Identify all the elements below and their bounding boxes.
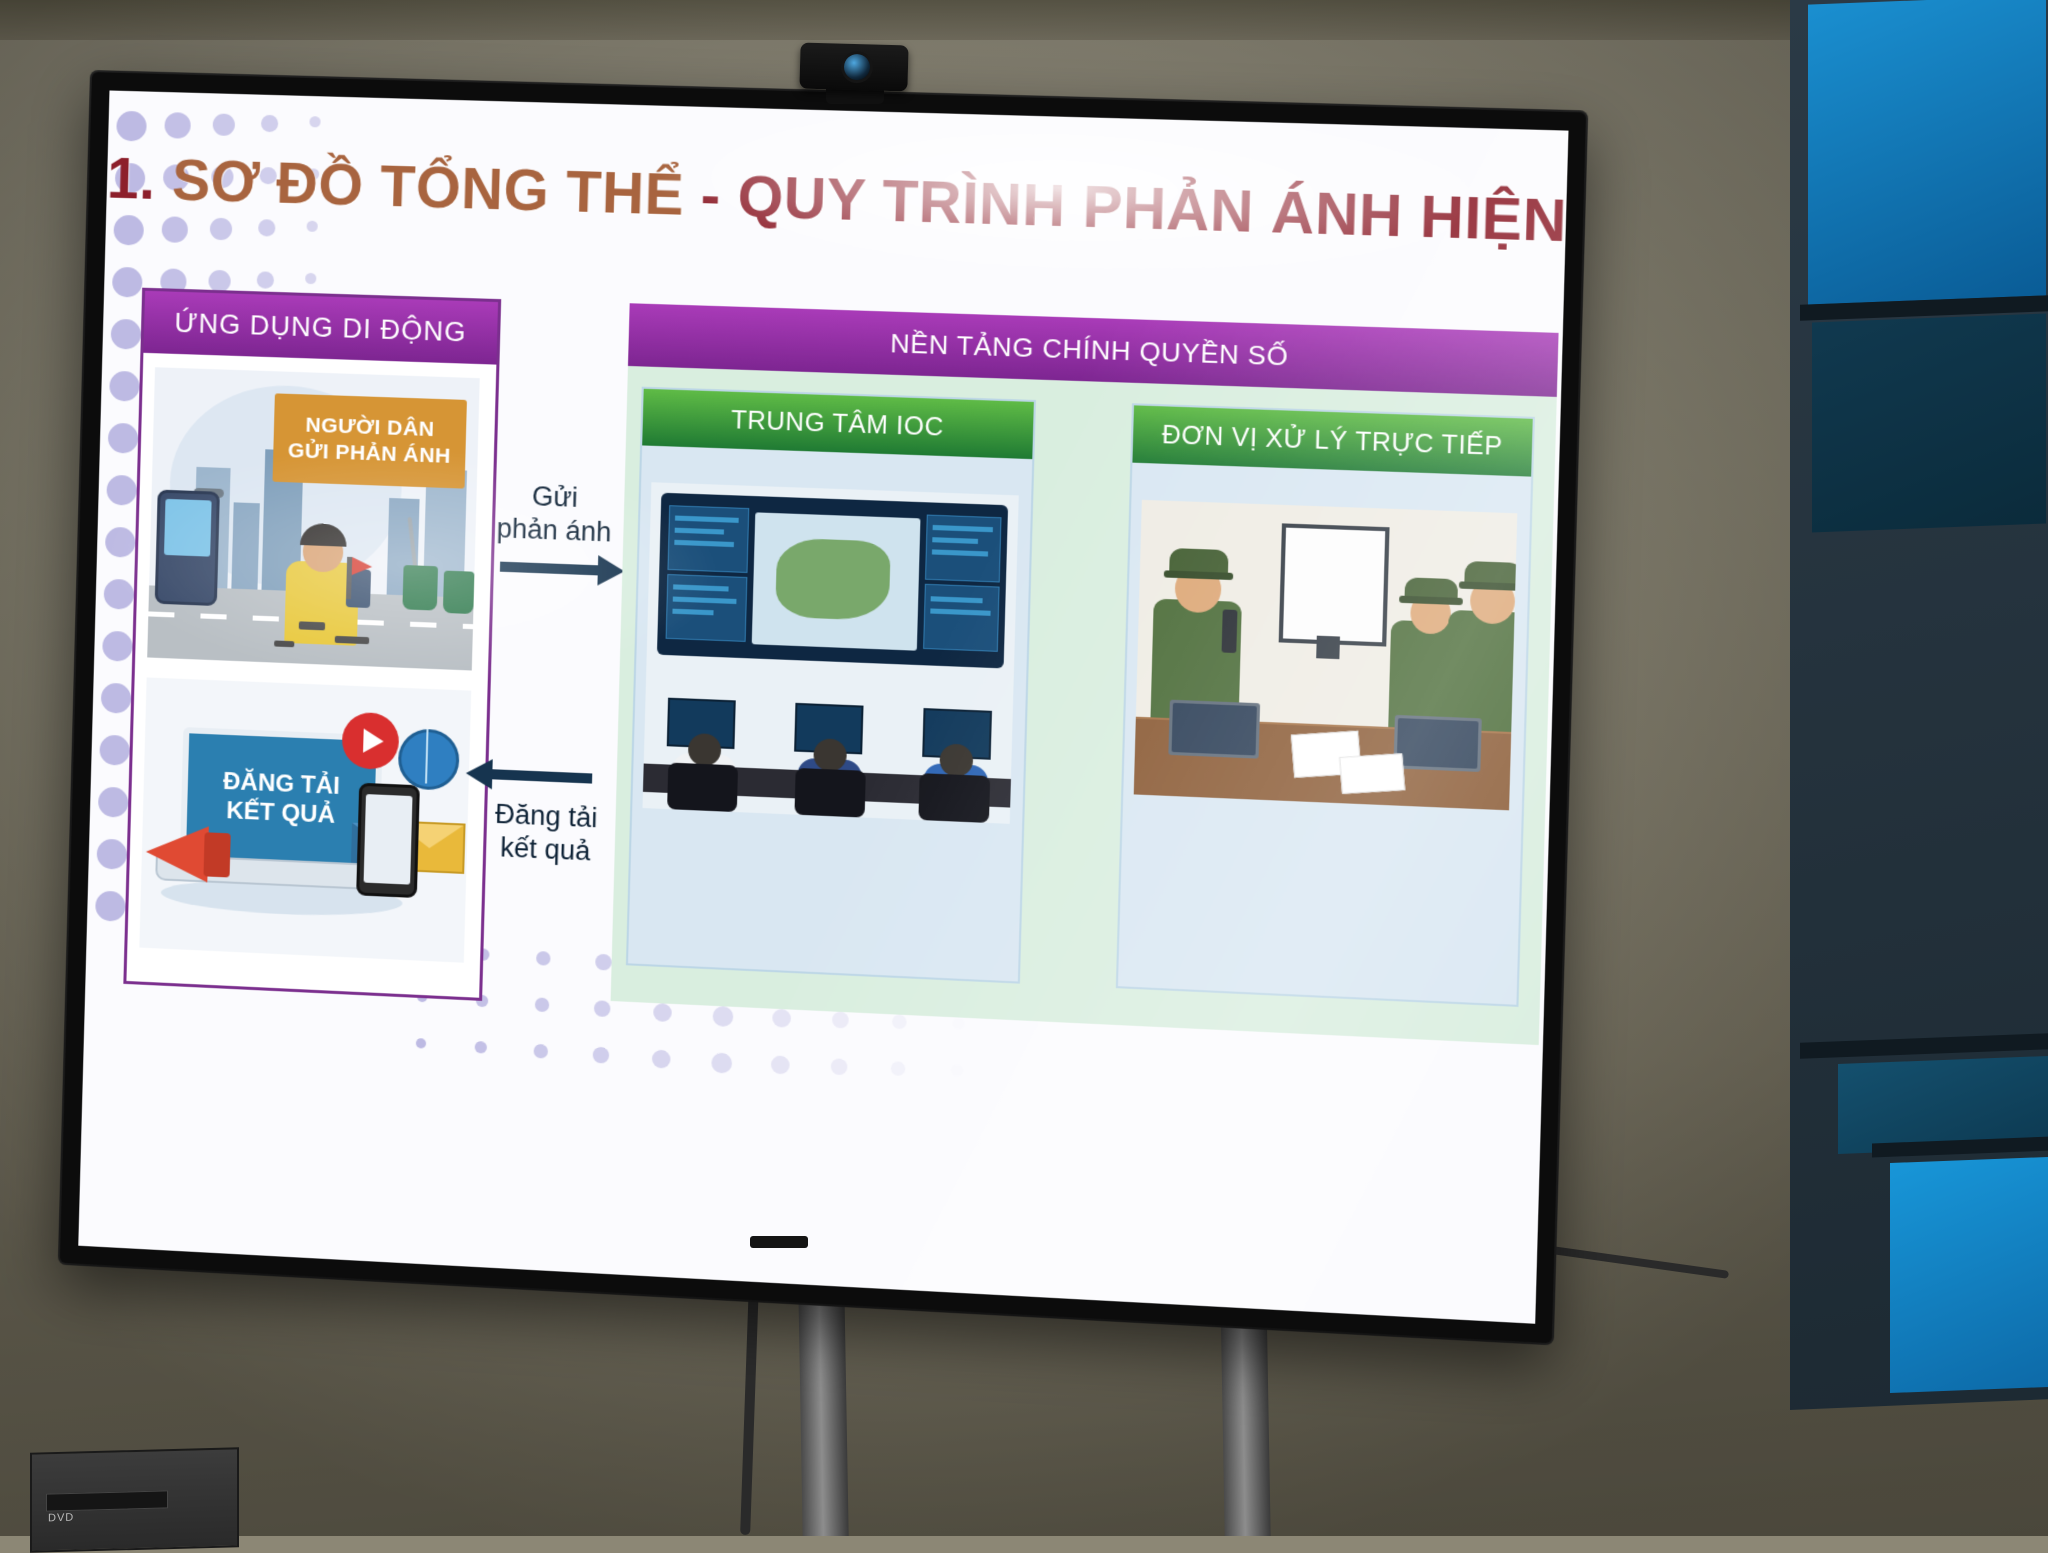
arrow-send-report <box>500 562 598 576</box>
mobile-phone-icon <box>356 783 420 898</box>
camera-lens-icon <box>844 54 871 81</box>
officer-cap <box>1405 577 1459 600</box>
debris <box>299 621 325 630</box>
decorative-dot <box>258 219 276 237</box>
illustration-post-result: ĐĂNG TẢI KẾT QUẢ <box>139 677 471 962</box>
decorative-dot <box>257 271 275 289</box>
window-glass-pane <box>1812 314 2046 533</box>
map-panel <box>752 512 921 650</box>
ioc-header: TRUNG TÂM IOC <box>642 389 1034 459</box>
decorative-dot <box>105 527 136 558</box>
decorative-dot <box>112 267 143 298</box>
decorative-dot <box>305 273 316 284</box>
decorative-dot <box>102 631 133 662</box>
unit-header-label: ĐƠN VỊ XỬ LÝ TRỰC TIẾP <box>1162 420 1503 462</box>
banner-line-2: GỬI PHẢN ÁNH <box>288 438 452 470</box>
office-chair <box>794 768 865 818</box>
title-separator: - <box>700 164 722 229</box>
illustration-processing-unit <box>1134 500 1518 811</box>
decorative-dot <box>106 475 137 506</box>
panel-digital-government-platform: NỀN TẢNG CHÍNH QUYỀN SỐ TRUNG TÂM IOC <box>611 303 1559 1045</box>
ioc-header-label: TRUNG TÂM IOC <box>731 405 944 442</box>
mobile-app-header: ỨNG DỤNG DI ĐỘNG <box>143 291 498 365</box>
tv-screen: 1. SƠ ĐỒ TỔNG THỂ - QUY TRÌNH PHẢN ÁNH H… <box>78 90 1568 1323</box>
disc-drive-slot <box>46 1490 168 1511</box>
title-main: QUY TRÌNH PHẢN ÁNH HIỆN TRƯỜNG <box>737 165 1569 264</box>
platform-header: NỀN TẢNG CHÍNH QUYỀN SỐ <box>628 303 1559 397</box>
decorative-dot <box>711 1052 732 1073</box>
decorative-dot <box>712 1006 733 1027</box>
window-glass-pane <box>1890 1157 2048 1393</box>
mobile-app-header-label: ỨNG DỤNG DI ĐỘNG <box>174 307 467 348</box>
decorative-dot <box>891 1061 906 1076</box>
walkie-talkie-icon <box>1222 609 1238 653</box>
decorative-dot <box>210 218 233 241</box>
platform-header-label: NỀN TẢNG CHÍNH QUYỀN SỐ <box>890 327 1289 372</box>
decorative-dot <box>116 111 147 142</box>
card-processing-unit: ĐƠN VỊ XỬ LÝ TRỰC TIẾP <box>1116 403 1535 1007</box>
building <box>231 502 259 589</box>
decorative-dot <box>212 113 235 136</box>
decorative-dot <box>594 1000 611 1017</box>
laptop-icon <box>1393 715 1481 772</box>
decorative-dot <box>475 1041 488 1054</box>
television: 1. SƠ ĐỒ TỔNG THỂ - QUY TRÌNH PHẢN ÁNH H… <box>60 72 1586 1343</box>
decorative-dot <box>595 954 612 971</box>
decorative-dot <box>309 116 320 127</box>
officer-cap <box>1169 548 1228 575</box>
decorative-dot <box>113 215 144 246</box>
arrow-send-report-label: Gửi phản ánh <box>472 478 637 551</box>
decorative-dot <box>831 1058 848 1075</box>
unit-header: ĐƠN VỊ XỬ LÝ TRỰC TIẾP <box>1132 405 1532 476</box>
decorative-dot <box>832 1012 849 1029</box>
decorative-dot <box>652 1050 671 1069</box>
trash-bin-icon <box>443 571 475 614</box>
decorative-dot <box>261 115 279 133</box>
hand-holding-phone-icon <box>155 490 220 607</box>
arrow-label-line-2: phản ánh <box>472 511 636 550</box>
decorative-dot <box>99 735 130 766</box>
decorative-dot <box>771 1055 790 1074</box>
decorative-dot <box>109 371 140 402</box>
panel-mobile-app: ỨNG DỤNG DI ĐỘNG NGƯỜI DÂN GỬI PHẢN ÁNH <box>123 288 501 1001</box>
decorative-dot <box>103 579 134 610</box>
decorative-dot <box>95 890 126 921</box>
decorative-dot <box>593 1047 610 1064</box>
paper-document <box>1339 753 1405 794</box>
office-chair <box>667 763 738 813</box>
window-glass-pane <box>1808 0 2046 305</box>
card-ioc: TRUNG TÂM IOC <box>626 387 1036 984</box>
megaphone-icon <box>145 824 209 883</box>
server-label: DVD <box>48 1512 74 1525</box>
decorative-dot <box>307 221 318 232</box>
report-banner: NGƯỜI DÂN GỬI PHẢN ÁNH <box>272 393 466 488</box>
office-chair <box>918 773 990 823</box>
megaphone-handle <box>203 832 230 877</box>
title-number: 1. <box>106 146 156 211</box>
arrow-label-line-2: kết quả <box>461 829 629 870</box>
presentation-slide: 1. SƠ ĐỒ TỔNG THỂ - QUY TRÌNH PHẢN ÁNH H… <box>78 90 1568 1323</box>
decorative-dot <box>96 839 127 870</box>
decorative-dot <box>101 683 132 714</box>
wall-monitor <box>1279 523 1390 646</box>
decorative-dot <box>108 423 139 454</box>
arrow-post-result <box>492 769 592 783</box>
video-panel <box>923 584 1000 652</box>
decorative-dot <box>416 1038 426 1049</box>
video-wall <box>657 493 1008 669</box>
illustration-citizen-report: NGƯỜI DÂN GỬI PHẢN ÁNH <box>147 367 480 670</box>
laptop-icon <box>1168 700 1260 759</box>
screen-line-2: KẾT QUẢ <box>226 797 336 831</box>
arrow-post-result-label: Đăng tải kết quả <box>461 796 630 870</box>
webcam <box>799 43 908 92</box>
decorative-dot <box>164 112 191 139</box>
decorative-dot <box>952 1017 965 1030</box>
decorative-dot <box>951 1064 964 1077</box>
decorative-dot <box>772 1009 791 1028</box>
debris <box>274 640 294 647</box>
tv-ir-sensor <box>750 1236 808 1248</box>
decorative-dot <box>533 1044 548 1059</box>
decorative-dot <box>98 787 129 818</box>
decorative-dot <box>653 1003 672 1022</box>
decorative-dot <box>536 951 551 966</box>
globe-icon <box>398 728 460 791</box>
debris <box>335 636 370 644</box>
decorative-dot <box>892 1014 907 1029</box>
monitor-stand <box>1316 636 1340 660</box>
decorative-dot <box>535 997 550 1012</box>
decorative-dot <box>161 216 188 243</box>
decorative-dot <box>111 319 142 350</box>
illustration-ioc-center <box>642 482 1018 824</box>
trash-bin-icon <box>402 565 438 611</box>
officer-cap <box>1464 561 1517 586</box>
